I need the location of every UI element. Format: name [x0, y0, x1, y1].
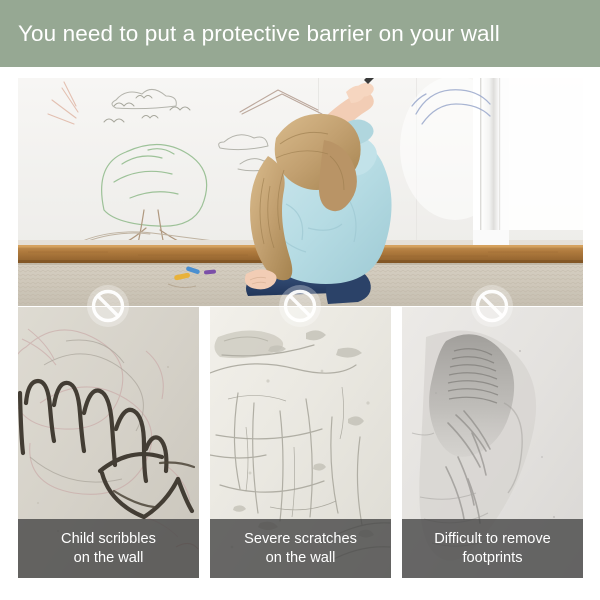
panel-caption-severe-scratches: Severe scratches on the wall: [210, 519, 391, 578]
promo-banner: You need to put a protective barrier on …: [0, 0, 600, 600]
caption-line-2: on the wall: [61, 549, 156, 568]
panel-caption-child-scribbles: Child scribbles on the wall: [18, 519, 199, 578]
problem-panels: Child scribbles on the wall: [18, 307, 584, 578]
page-title: You need to put a protective barrier on …: [18, 0, 500, 67]
panel-severe-scratches[interactable]: Severe scratches on the wall: [210, 307, 391, 578]
caption-line-2: footprints: [434, 549, 551, 568]
hero-illustration: [18, 78, 583, 306]
caption-line-1: Child scribbles: [61, 530, 156, 549]
caption-line-2: on the wall: [244, 549, 357, 568]
caption-line-1: Difficult to remove: [434, 530, 551, 549]
panel-caption-difficult-footprints: Difficult to remove footprints: [402, 519, 583, 578]
header-banner: You need to put a protective barrier on …: [0, 0, 600, 67]
panel-child-scribbles[interactable]: Child scribbles on the wall: [18, 307, 199, 578]
panel-difficult-footprints[interactable]: Difficult to remove footprints: [402, 307, 583, 578]
hero-photo: [18, 78, 583, 306]
caption-line-1: Severe scratches: [244, 530, 357, 549]
